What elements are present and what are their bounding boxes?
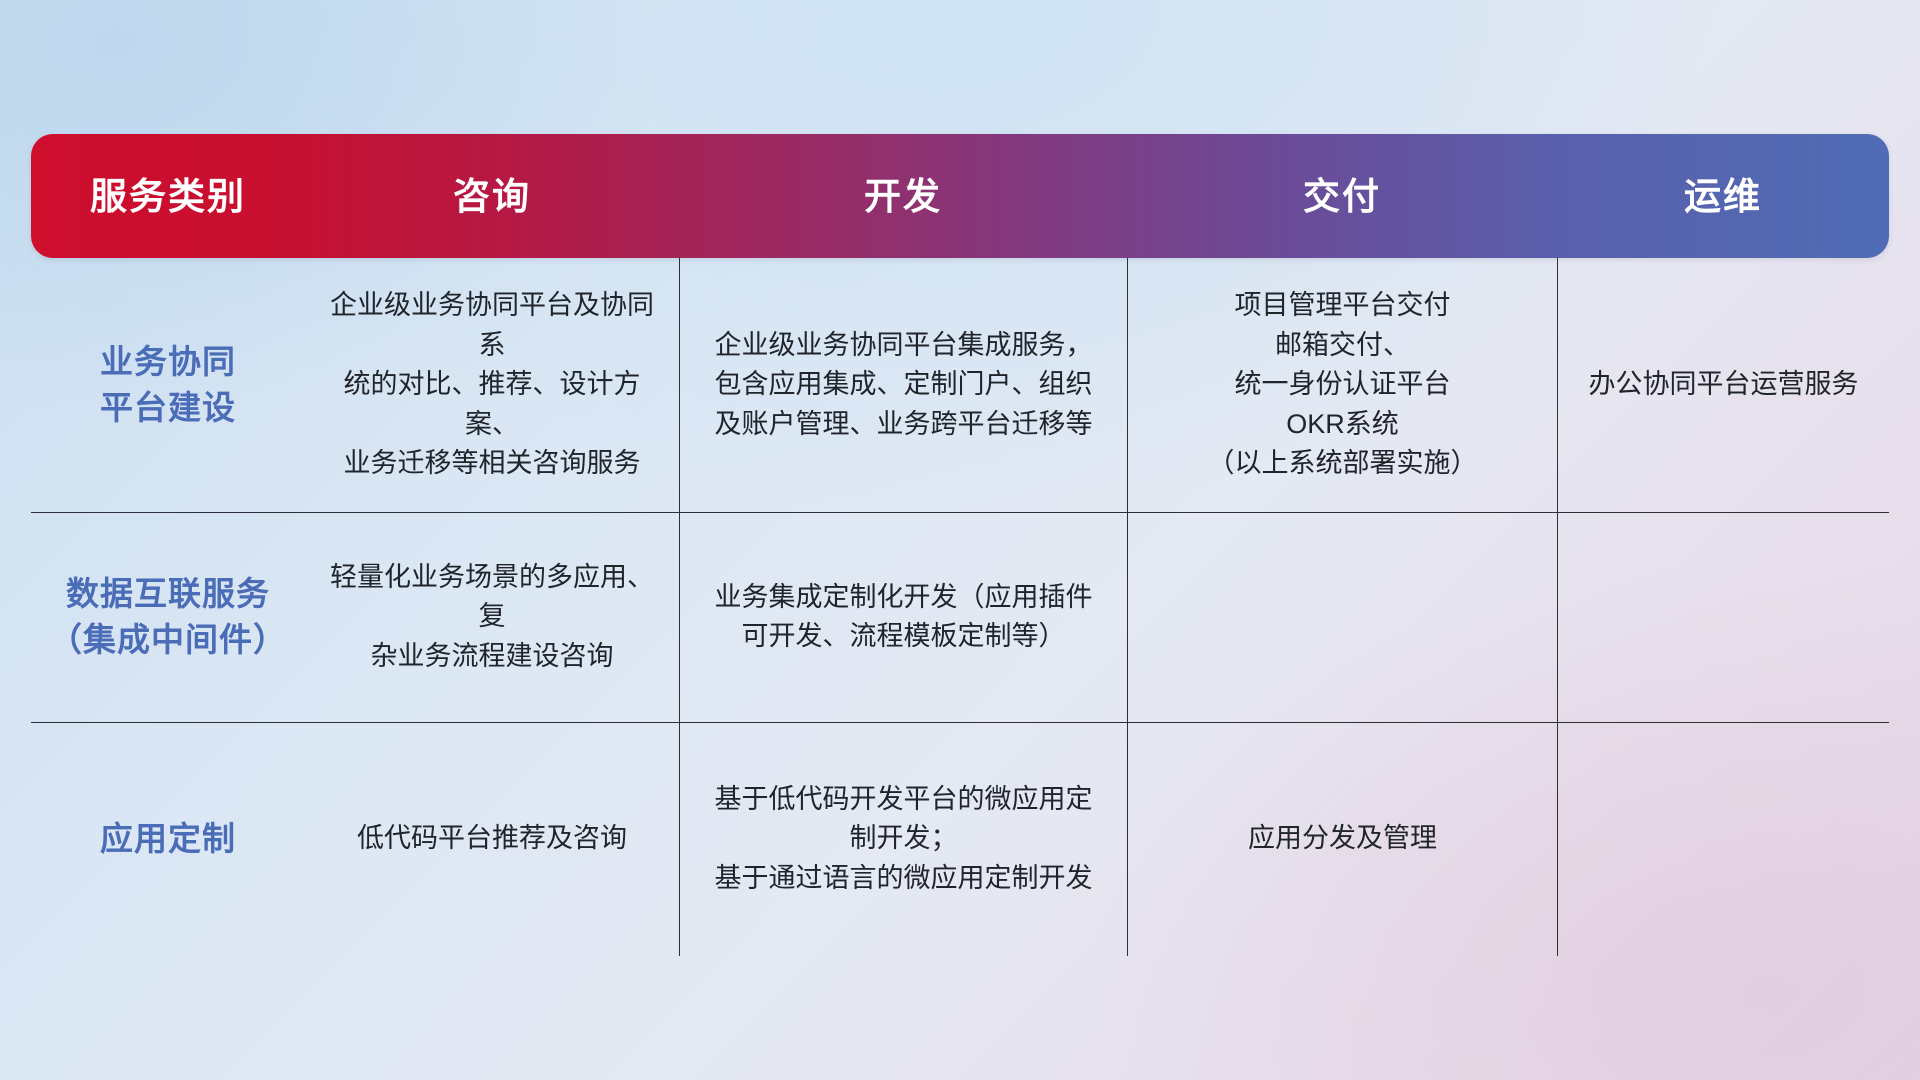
cell-row2-development: 业务集成定制化开发（应用插件 可开发、流程模板定制等） xyxy=(679,512,1127,722)
column-header-development: 开发 xyxy=(679,134,1127,258)
cell-row3-consulting: 低代码平台推荐及咨询 xyxy=(305,722,679,956)
table-row: 应用定制 低代码平台推荐及咨询 基于低代码开发平台的微应用定 制开发； 基于通过… xyxy=(31,722,1889,956)
cell-row3-delivery: 应用分发及管理 xyxy=(1127,722,1557,956)
column-header-category: 服务类别 xyxy=(31,134,305,258)
cell-row2-operations xyxy=(1557,512,1889,722)
cell-row1-consulting: 企业级业务协同平台及协同系 统的对比、推荐、设计方案、 业务迁移等相关咨询服务 xyxy=(305,258,679,512)
column-header-consulting: 咨询 xyxy=(305,134,679,258)
cell-row3-development: 基于低代码开发平台的微应用定 制开发； 基于通过语言的微应用定制开发 xyxy=(679,722,1127,956)
row-label-app-customization: 应用定制 xyxy=(31,722,305,956)
table-header-row: 服务类别 咨询 开发 交付 运维 xyxy=(31,134,1889,258)
service-category-table: 服务类别 咨询 开发 交付 运维 业务协同 平台建设 企业级业务协同平台及协同系… xyxy=(31,134,1889,956)
cell-row1-development: 企业级业务协同平台集成服务， 包含应用集成、定制门户、组织 及账户管理、业务跨平… xyxy=(679,258,1127,512)
column-header-operations: 运维 xyxy=(1557,134,1889,258)
table-row: 业务协同 平台建设 企业级业务协同平台及协同系 统的对比、推荐、设计方案、 业务… xyxy=(31,258,1889,512)
cell-row3-operations xyxy=(1557,722,1889,956)
cell-row1-delivery: 项目管理平台交付 邮箱交付、 统一身份认证平台 OKR系统 （以上系统部署实施） xyxy=(1127,258,1557,512)
table-row: 数据互联服务 （集成中间件） 轻量化业务场景的多应用、复 杂业务流程建设咨询 业… xyxy=(31,512,1889,722)
table-body: 业务协同 平台建设 企业级业务协同平台及协同系 统的对比、推荐、设计方案、 业务… xyxy=(31,258,1889,956)
column-header-delivery: 交付 xyxy=(1127,134,1557,258)
row-label-business-collaboration: 业务协同 平台建设 xyxy=(31,258,305,512)
cell-row2-delivery xyxy=(1127,512,1557,722)
cell-row1-operations: 办公协同平台运营服务 xyxy=(1557,258,1889,512)
row-label-data-interconnect: 数据互联服务 （集成中间件） xyxy=(31,512,305,722)
cell-row2-consulting: 轻量化业务场景的多应用、复 杂业务流程建设咨询 xyxy=(305,512,679,722)
